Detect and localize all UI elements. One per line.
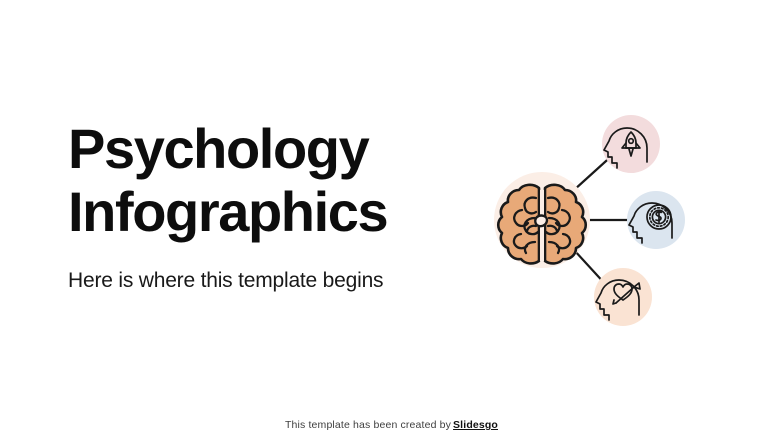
page-title-line-1: Psychology [68, 117, 368, 180]
node-head-rocket[interactable] [602, 115, 660, 173]
node-head-heart-arrow[interactable] [594, 268, 652, 326]
node-head-coin[interactable] [627, 191, 685, 249]
slidesgo-link[interactable]: Slidesgo [453, 419, 498, 431]
page-title: PsychologyInfographics [68, 118, 468, 243]
page-title-line-2: Infographics [68, 180, 387, 243]
brain-icon [498, 185, 586, 264]
slide-canvas: PsychologyInfographics Here is where thi… [0, 0, 783, 440]
title-group: PsychologyInfographics Here is where thi… [68, 118, 468, 295]
page-subtitle: Here is where this template begins [68, 243, 468, 294]
brain-network-diagram [470, 90, 700, 340]
center-node-brain[interactable] [494, 172, 590, 268]
footer-credit: This template has been created bySlidesg… [0, 419, 783, 431]
footer-text: This template has been created by [285, 419, 451, 431]
